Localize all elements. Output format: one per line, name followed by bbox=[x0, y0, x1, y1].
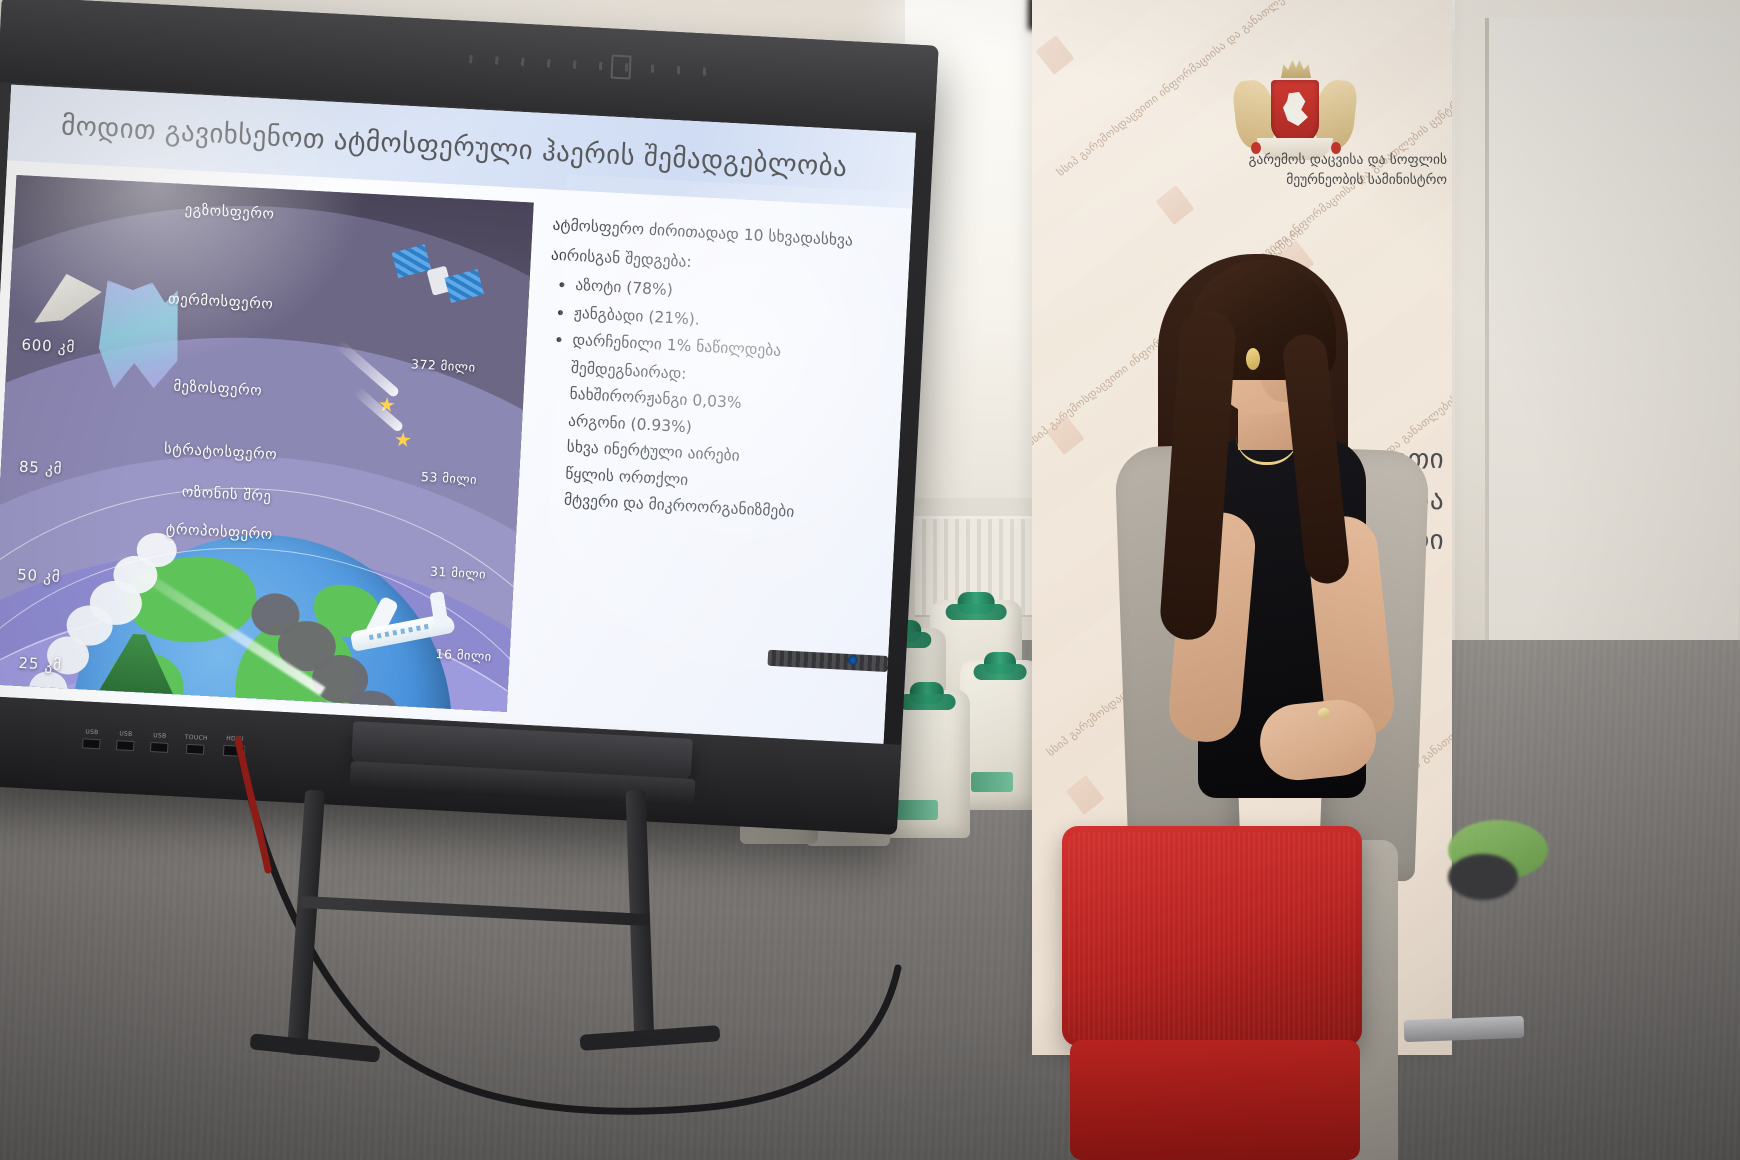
slide: მოდით გავიხსენოთ ატმოსფერული ჰაერის შემა… bbox=[0, 85, 916, 744]
display-screen[interactable]: მოდით გავიხსენოთ ატმოსფერული ჰაერის შემა… bbox=[0, 85, 916, 744]
diagram-mile-label: 53 მილი bbox=[421, 469, 478, 487]
chair-seat bbox=[1070, 1040, 1360, 1160]
diagram-altitude-label: 600 კმ bbox=[21, 336, 76, 357]
diagram-altitude-label: 85 კმ bbox=[19, 458, 63, 478]
banner-org-name: გარემოს დაცვისა და სოფლის მეურნეობის სამ… bbox=[1232, 150, 1447, 191]
banner-org-line-1: გარემოს დაცვისა და სოფლის bbox=[1232, 150, 1447, 170]
slide-sublines: შემდეგნაირად: ნახშირორჟანგი 0,03% არგონი… bbox=[563, 357, 897, 530]
earring-icon bbox=[1246, 348, 1260, 370]
bezel-dots bbox=[469, 55, 729, 77]
chair-backrest bbox=[1062, 826, 1362, 1046]
bezel-sensor-icon bbox=[610, 55, 631, 80]
ring-icon bbox=[1318, 708, 1330, 718]
atmosphere-diagram: ეგზოსფერო თერმოსფერო მეზოსფერო სტრატოსფე… bbox=[0, 175, 534, 712]
slide-text-column: ატმოსფერო ძირითადად 10 სხვადასხვა აირისგ… bbox=[537, 214, 905, 533]
chair-fabric-texture bbox=[1068, 832, 1356, 1040]
door-panel bbox=[1485, 18, 1739, 718]
banner-org-line-2: მეურნეობის სამინისტრო bbox=[1232, 170, 1447, 190]
floor-dark-object bbox=[1448, 854, 1518, 900]
satellite-icon bbox=[388, 237, 488, 320]
slide-bullet-list: აზოტი (78%) ჟანგბადი (21%). დარჩენილი 1%… bbox=[546, 273, 902, 370]
presentation-room-scene: მოდით გავიხსენოთ ატმოსფერული ჰაერის შემა… bbox=[0, 0, 1740, 1160]
